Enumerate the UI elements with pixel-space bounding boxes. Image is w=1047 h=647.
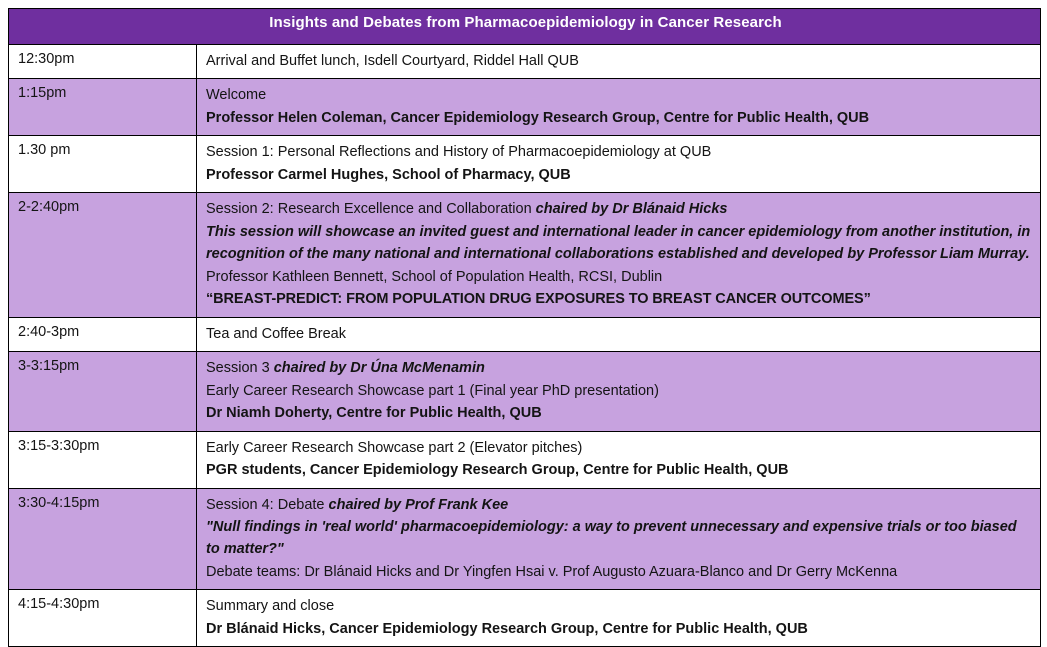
agenda-detail-line: Debate teams: Dr Blánaid Hicks and Dr Yi…: [206, 561, 1033, 583]
agenda-row-time: 4:15-4:30pm: [9, 590, 197, 647]
agenda-detail-line: Dr Niamh Doherty, Centre for Public Heal…: [206, 402, 1033, 424]
agenda-detail-line: Session 1: Personal Reflections and Hist…: [206, 141, 1033, 163]
agenda-detail-line: Professor Kathleen Bennett, School of Po…: [206, 266, 1033, 288]
agenda-row: 3:30-4:15pmSession 4: Debate chaired by …: [9, 488, 1041, 590]
agenda-row-time: 12:30pm: [9, 45, 197, 79]
agenda-row-time: 1:15pm: [9, 79, 197, 136]
agenda-row-details: Session 4: Debate chaired by Prof Frank …: [197, 488, 1041, 590]
agenda-detail-line: Dr Blánaid Hicks, Cancer Epidemiology Re…: [206, 618, 1033, 640]
agenda-row-time: 3:30-4:15pm: [9, 488, 197, 590]
agenda-row-details: Early Career Research Showcase part 2 (E…: [197, 431, 1041, 488]
agenda-row: 3:15-3:30pmEarly Career Research Showcas…: [9, 431, 1041, 488]
agenda-detail-line: Professor Carmel Hughes, School of Pharm…: [206, 164, 1033, 186]
agenda-row-time: 3-3:15pm: [9, 352, 197, 431]
agenda-detail-text: Session 3: [206, 360, 274, 376]
agenda-row: 3-3:15pmSession 3 chaired by Dr Úna McMe…: [9, 352, 1041, 431]
agenda-detail-line: Professor Helen Coleman, Cancer Epidemio…: [206, 107, 1033, 129]
agenda-title: Insights and Debates from Pharmacoepidem…: [9, 9, 1041, 45]
agenda-detail-emphasis: chaired by Dr Úna McMenamin: [274, 360, 485, 376]
agenda-detail-line: Arrival and Buffet lunch, Isdell Courtya…: [206, 50, 1033, 72]
agenda-title-row: Insights and Debates from Pharmacoepidem…: [9, 9, 1041, 45]
agenda-row-details: Tea and Coffee Break: [197, 317, 1041, 351]
agenda-row: 12:30pmArrival and Buffet lunch, Isdell …: [9, 45, 1041, 79]
agenda-row-details: Session 1: Personal Reflections and Hist…: [197, 136, 1041, 193]
agenda-detail-text: Session 2: Research Excellence and Colla…: [206, 201, 536, 217]
agenda-row: 1:15pmWelcomeProfessor Helen Coleman, Ca…: [9, 79, 1041, 136]
agenda-row: 1.30 pmSession 1: Personal Reflections a…: [9, 136, 1041, 193]
agenda-detail-line: Session 3 chaired by Dr Úna McMenamin: [206, 357, 1033, 379]
agenda-row-time: 2-2:40pm: [9, 193, 197, 317]
agenda-detail-line: This session will showcase an invited gu…: [206, 221, 1033, 266]
agenda-row-details: Session 3 chaired by Dr Úna McMenaminEar…: [197, 352, 1041, 431]
agenda-row-details: Arrival and Buffet lunch, Isdell Courtya…: [197, 45, 1041, 79]
agenda-page: Insights and Debates from Pharmacoepidem…: [0, 0, 1047, 552]
agenda-row: 2:40-3pmTea and Coffee Break: [9, 317, 1041, 351]
agenda-detail-line: Summary and close: [206, 595, 1033, 617]
agenda-row: 2-2:40pmSession 2: Research Excellence a…: [9, 193, 1041, 317]
agenda-detail-emphasis: chaired by Prof Frank Kee: [329, 497, 509, 513]
agenda-row-details: WelcomeProfessor Helen Coleman, Cancer E…: [197, 79, 1041, 136]
agenda-table-head: Insights and Debates from Pharmacoepidem…: [9, 9, 1041, 45]
agenda-row-details: Summary and closeDr Blánaid Hicks, Cance…: [197, 590, 1041, 647]
agenda-detail-line: Early Career Research Showcase part 2 (E…: [206, 437, 1033, 459]
agenda-detail-line: Welcome: [206, 84, 1033, 106]
agenda-detail-emphasis: chaired by Dr Blánaid Hicks: [536, 201, 728, 217]
agenda-detail-line: Early Career Research Showcase part 1 (F…: [206, 380, 1033, 402]
agenda-detail-line: Session 4: Debate chaired by Prof Frank …: [206, 494, 1033, 516]
agenda-table: Insights and Debates from Pharmacoepidem…: [8, 8, 1041, 647]
agenda-row: 4:15-4:30pmSummary and closeDr Blánaid H…: [9, 590, 1041, 647]
agenda-row-details: Session 2: Research Excellence and Colla…: [197, 193, 1041, 317]
agenda-detail-line: “BREAST-PREDICT: FROM POPULATION DRUG EX…: [206, 288, 1033, 310]
agenda-detail-text: Session 4: Debate: [206, 497, 329, 513]
agenda-detail-line: Session 2: Research Excellence and Colla…: [206, 198, 1033, 220]
agenda-detail-line: Tea and Coffee Break: [206, 323, 1033, 345]
agenda-detail-line: "Null findings in 'real world' pharmacoe…: [206, 516, 1033, 561]
agenda-row-time: 2:40-3pm: [9, 317, 197, 351]
agenda-table-body: 12:30pmArrival and Buffet lunch, Isdell …: [9, 45, 1041, 647]
agenda-detail-line: PGR students, Cancer Epidemiology Resear…: [206, 459, 1033, 481]
agenda-row-time: 3:15-3:30pm: [9, 431, 197, 488]
agenda-row-time: 1.30 pm: [9, 136, 197, 193]
